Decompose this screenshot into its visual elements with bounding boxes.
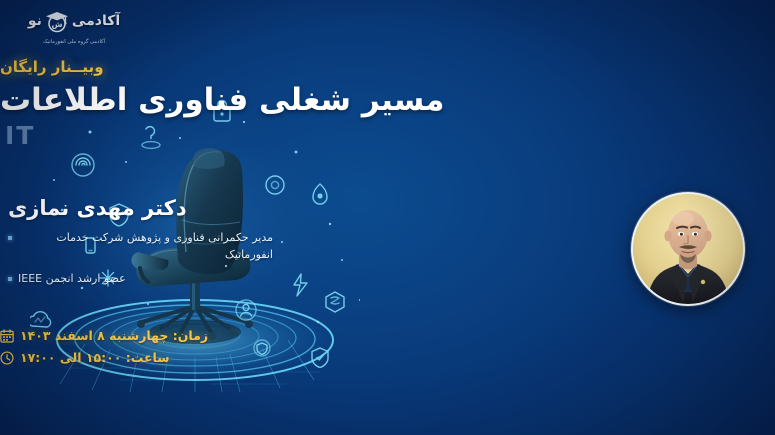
schedule-block: زمان: چهارشنبه ۸ اسفند ۱۴۰۳ ساعت: ۱۵:۰۰ … — [0, 328, 605, 372]
calendar-icon — [0, 329, 14, 343]
logo-word-left: نو — [28, 13, 42, 29]
title-subtitle-it: IT — [0, 121, 757, 150]
headline-block: وبیــنار رایگان مسیر شغلی فناوری اطلاعات… — [0, 58, 757, 150]
webinar-banner: آکادمی ش نو آکادمی گروه ملی انفورماتیک و… — [0, 0, 775, 435]
bullet-square-icon — [8, 236, 12, 240]
clock-icon — [0, 351, 14, 365]
brand-logo[interactable]: آکادمی ش نو آکادمی گروه ملی انفورماتیک — [14, 8, 134, 45]
graduation-cap-icon: ش — [44, 8, 70, 34]
page-title: مسیر شغلی فناوری اطلاعات — [0, 82, 757, 120]
speaker-portrait — [631, 192, 745, 306]
schedule-time-row: ساعت: ۱۵:۰۰ الی ۱۷:۰۰ — [0, 350, 605, 365]
logo-word-right: آکادمی — [72, 13, 120, 29]
bullet-square-icon — [8, 277, 12, 281]
speaker-credential-item: مدیر حکمرانی فناوری و پژوهش شرکت خدمات ا… — [0, 230, 620, 263]
brand-tagline: آکادمی گروه ملی انفورماتیک — [14, 39, 134, 45]
logo-lockup: آکادمی ش نو — [14, 8, 134, 34]
schedule-date-row: زمان: چهارشنبه ۸ اسفند ۱۴۰۳ — [0, 328, 605, 343]
speaker-credential-text: مدیر حکمرانی فناوری و پژوهش شرکت خدمات ا… — [18, 230, 273, 263]
schedule-date-text: زمان: چهارشنبه ۸ اسفند ۱۴۰۳ — [20, 328, 208, 343]
svg-text:ش: ش — [51, 20, 62, 30]
speaker-name: دکتر مهدی نمازی — [0, 196, 620, 220]
speaker-block: دکتر مهدی نمازی مدیر حکمرانی فناوری و پژ… — [0, 196, 620, 296]
speaker-credential-text: عضو ارشد انجمن IEEE — [18, 271, 126, 288]
eyebrow-free-webinar: وبیــنار رایگان — [0, 58, 757, 76]
speaker-credential-item: عضو ارشد انجمن IEEE — [0, 271, 620, 288]
schedule-time-text: ساعت: ۱۵:۰۰ الی ۱۷:۰۰ — [20, 350, 170, 365]
